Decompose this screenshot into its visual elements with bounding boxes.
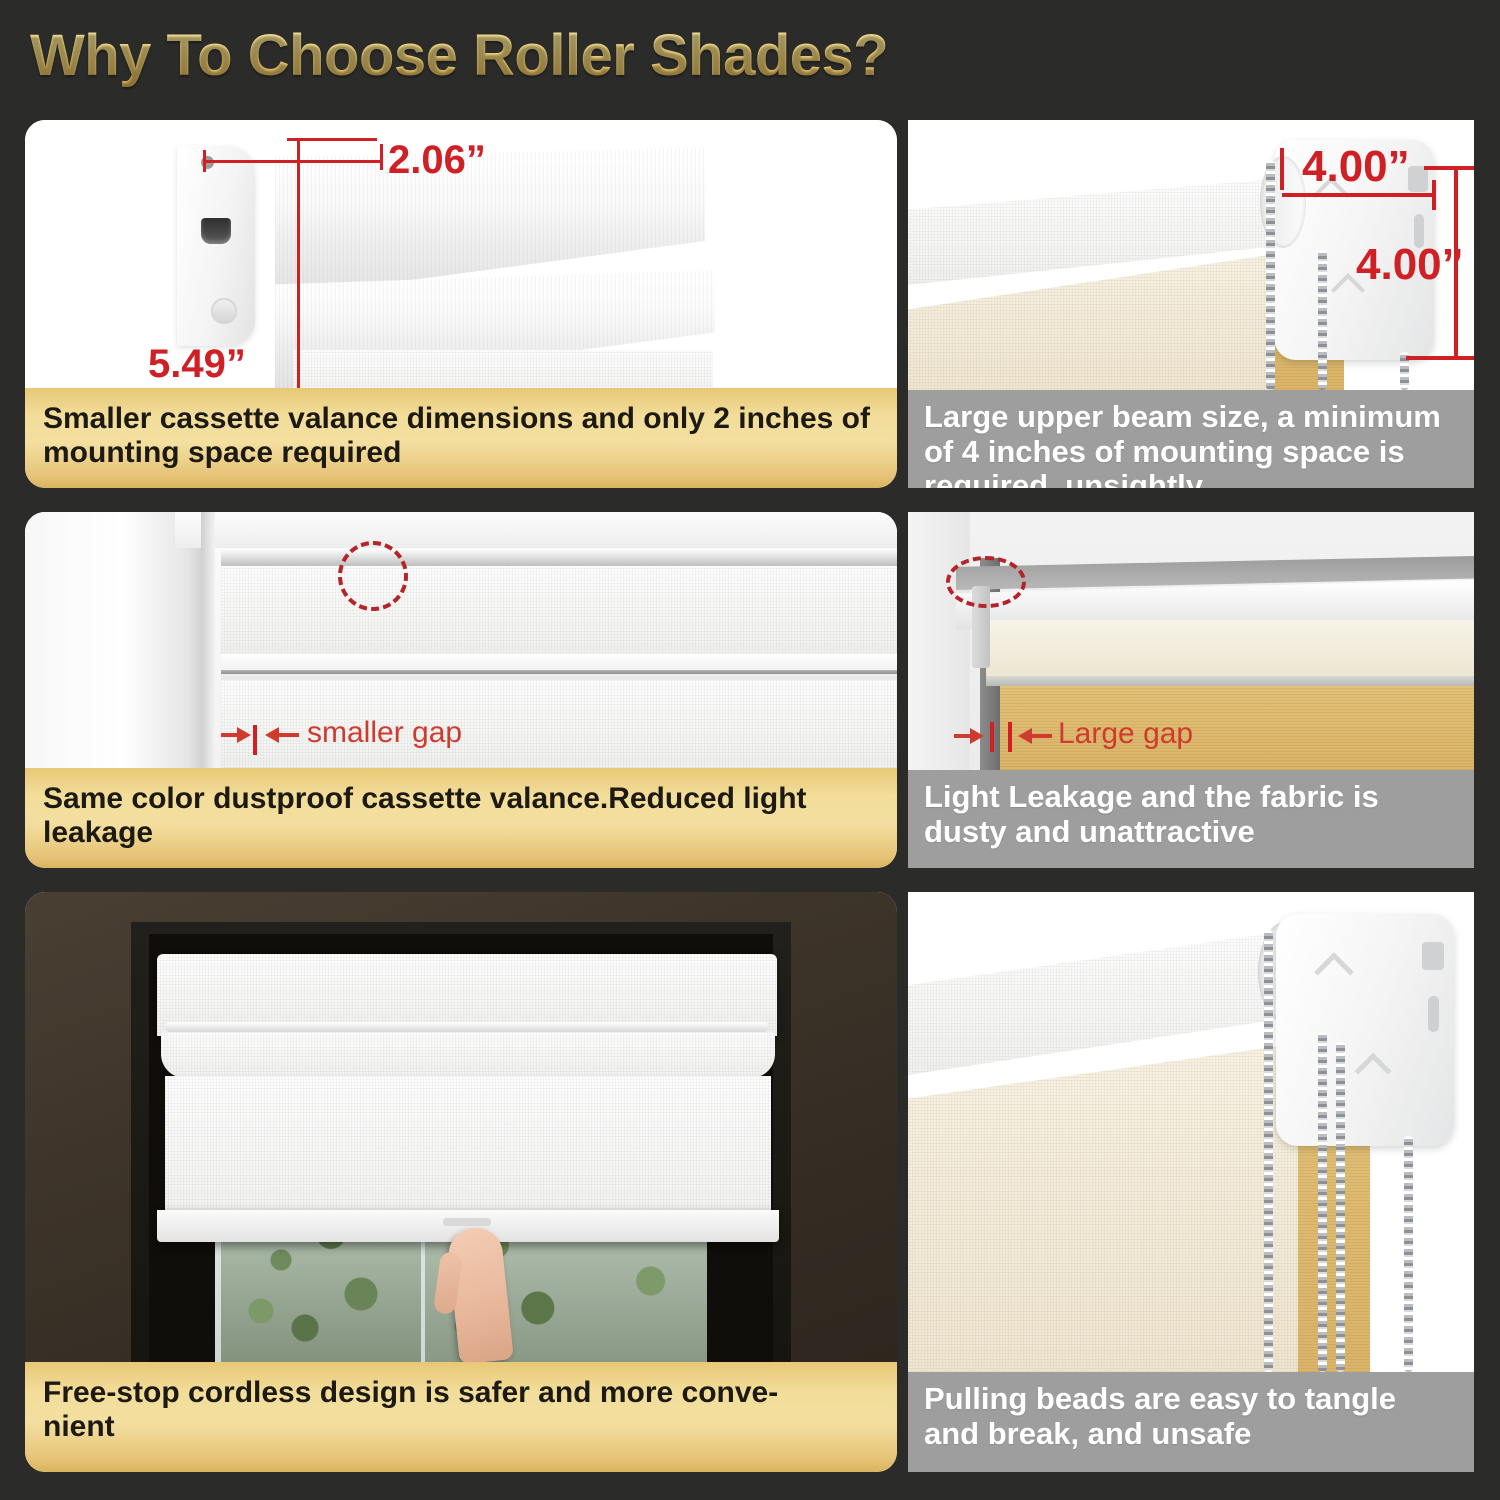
panel-1-photo: 2.06” 5.49” xyxy=(25,120,897,388)
page-title: Why To Choose Roller Shades? xyxy=(30,16,1130,96)
window-frame-top xyxy=(175,512,897,548)
highlight-circle xyxy=(946,556,1026,608)
bead-chain-mid-2 xyxy=(1336,1042,1345,1372)
large-gap-arrowhead-left xyxy=(970,728,984,744)
panel-6-caption-text: Pulling beads are easy to tangle and bre… xyxy=(908,1372,1474,1451)
panel-smaller-cassette: 2.06” 5.49” Smaller cassette valance dim… xyxy=(25,120,897,488)
panel-3-caption-text: Same color dustproof cassette valance.Re… xyxy=(25,768,897,849)
smaller-gap-label: smaller gap xyxy=(307,716,462,750)
panel-6-caption: Pulling beads are easy to tangle and bre… xyxy=(908,1372,1474,1472)
smaller-gap-arrowhead-right xyxy=(265,727,279,743)
beam-height-tick-bottom xyxy=(1406,356,1474,360)
panel-pulling-beads: Pulling beads are easy to tangle and bre… xyxy=(908,892,1474,1472)
window-frame-inner-edge xyxy=(201,512,215,768)
bracket-slot-icon xyxy=(1428,996,1439,1032)
beam-width-tick-left xyxy=(1280,148,1284,190)
large-gap-bar-right xyxy=(1008,722,1012,752)
endcap-slot-icon xyxy=(201,218,231,244)
endcap-screw-icon xyxy=(211,298,237,324)
wall-left xyxy=(908,512,970,770)
beam-width-dim-line xyxy=(1282,193,1434,197)
panel-2-photo: 4.00” 4.00” xyxy=(908,120,1474,390)
valance-band-edge xyxy=(986,676,1474,686)
panel-5-caption-text: Free-stop cordless design is safer and m… xyxy=(25,1362,897,1443)
cassette-valance-illustration: 2.06” 5.49” xyxy=(25,120,897,388)
valance-gap-line xyxy=(221,670,897,674)
panel-cordless-design: Free-stop cordless design is safer and m… xyxy=(25,892,897,1472)
panel-1-caption: Smaller cassette valance dimensions and … xyxy=(25,388,897,488)
height-dim-tick-top xyxy=(287,138,377,141)
panel-5-caption: Free-stop cordless design is safer and m… xyxy=(25,1362,897,1472)
shade-fabric-body xyxy=(908,1042,1308,1372)
large-gap-arrowhead-right xyxy=(1018,728,1032,744)
panel-large-upper-beam: 4.00” 4.00” Large upper beam size, a min… xyxy=(908,120,1474,488)
cassette-head-rail xyxy=(221,550,897,566)
shade-pull-tab xyxy=(443,1218,491,1226)
shade-roll-tube xyxy=(161,1032,775,1078)
panel-4-caption-text: Light Leakage and the fabric is dusty an… xyxy=(908,770,1474,849)
highlight-circle xyxy=(338,541,408,611)
panel-3-photo: smaller gap xyxy=(25,512,897,768)
bead-chain-right xyxy=(1404,1136,1413,1372)
beam-height-label: 4.00” xyxy=(1356,240,1464,290)
panel-light-leakage: Large gap Light Leakage and the fabric i… xyxy=(908,512,1474,868)
panel-4-photo: Large gap xyxy=(908,512,1474,770)
bead-chain-mid xyxy=(1318,1032,1327,1372)
bead-chain-left xyxy=(1264,930,1273,1372)
width-dim-line xyxy=(203,160,383,163)
panel-6-photo xyxy=(908,892,1474,1372)
panel-3-caption: Same color dustproof cassette valance.Re… xyxy=(25,768,897,868)
shade-fabric xyxy=(293,350,713,388)
panel-dustproof-valance: smaller gap Same color dustproof cassett… xyxy=(25,512,897,868)
bracket-notch-icon xyxy=(1422,942,1444,970)
height-dim-line xyxy=(297,138,300,388)
panel-4-caption: Light Leakage and the fabric is dusty an… xyxy=(908,770,1474,868)
width-dim-tick-right xyxy=(380,144,383,170)
shade-fabric-bottom-rail xyxy=(221,654,897,680)
beam-width-label: 4.00” xyxy=(1302,142,1410,192)
title-bar: Why To Choose Roller Shades? xyxy=(30,16,1130,96)
panel-2-caption-text: Large upper beam size, a minimum of 4 in… xyxy=(908,390,1474,488)
width-dim-tick-left xyxy=(203,150,206,172)
valance-groove xyxy=(165,1022,769,1032)
window-frame-left xyxy=(25,512,201,768)
valance-band xyxy=(986,620,1474,678)
shade-fabric-upper xyxy=(221,566,897,662)
bead-chain-mid xyxy=(1318,250,1327,390)
beam-width-tick-right xyxy=(1432,180,1436,210)
large-gap-label: Large gap xyxy=(1058,717,1193,751)
width-dimension-label: 2.06” xyxy=(388,138,486,183)
panel-5-photo xyxy=(25,892,897,1362)
bead-chain-left xyxy=(1266,160,1275,390)
beam-height-tick-top xyxy=(1424,166,1474,170)
panel-1-caption-text: Smaller cassette valance dimensions and … xyxy=(25,388,897,469)
height-dimension-label: 5.49” xyxy=(148,342,246,387)
smaller-gap-bar xyxy=(253,725,257,755)
smaller-gap-arrowhead-left xyxy=(237,727,251,743)
panel-2-caption: Large upper beam size, a minimum of 4 in… xyxy=(908,390,1474,488)
large-gap-bar-left xyxy=(990,722,994,752)
